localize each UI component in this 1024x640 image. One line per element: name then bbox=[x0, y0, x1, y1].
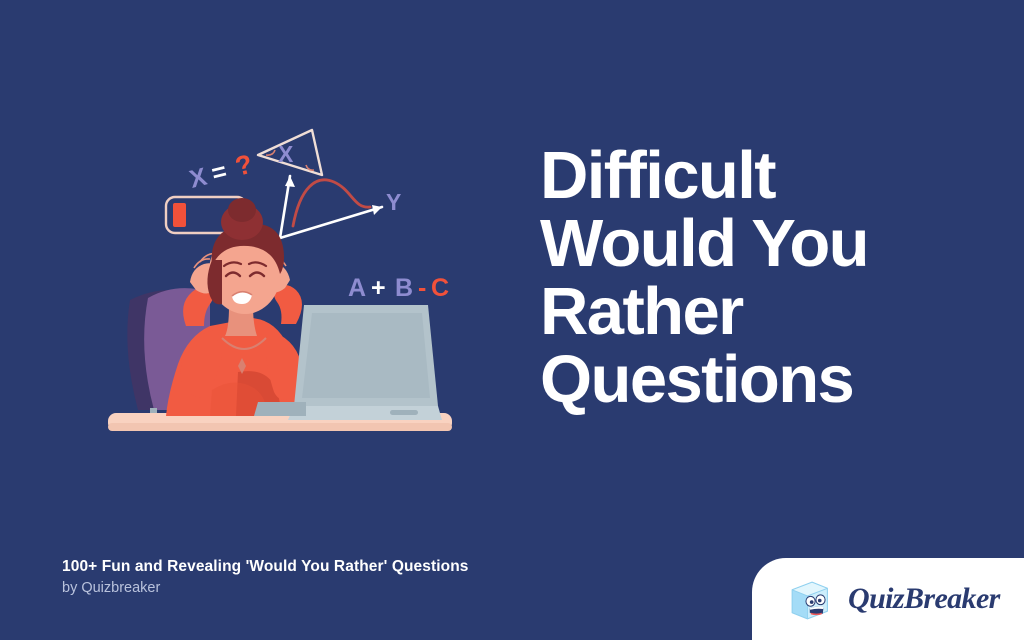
formula-a-label: A bbox=[348, 274, 366, 302]
caption-title: 100+ Fun and Revealing 'Would You Rather… bbox=[62, 557, 469, 577]
formula-c-label: C bbox=[431, 274, 449, 302]
formula-minus-label: - bbox=[418, 274, 426, 302]
page-title: Difficult Would You Rather Questions bbox=[540, 142, 980, 414]
graph-y-axis-label: Y bbox=[386, 189, 401, 215]
caption-byline: by Quizbreaker bbox=[62, 578, 469, 598]
caption-block: 100+ Fun and Revealing 'Would You Rather… bbox=[62, 557, 469, 598]
title-line-2: Would You bbox=[540, 210, 980, 278]
ice-cube-character-icon bbox=[786, 576, 832, 622]
equation-x-label: X bbox=[187, 163, 210, 194]
equation-x-equals-question: X = ? bbox=[187, 149, 256, 194]
title-line-3: Rather bbox=[540, 278, 980, 346]
brand-logo-card[interactable]: QuizBreaker bbox=[752, 558, 1024, 640]
person-head bbox=[207, 198, 284, 336]
formula-b-label: B bbox=[395, 274, 413, 302]
brand-wordmark: QuizBreaker bbox=[848, 582, 1000, 616]
graph-icon: X Y bbox=[278, 141, 401, 238]
graph-x-axis-label: X bbox=[278, 141, 294, 167]
equation-equals-label: = bbox=[209, 157, 230, 188]
formula-a-plus-b-minus-c: A + B - C bbox=[348, 274, 449, 302]
title-line-4: Questions bbox=[540, 346, 980, 414]
equation-question-label: ? bbox=[232, 149, 255, 182]
poster-canvas: X = ? X Y A + B - bbox=[0, 0, 1024, 640]
formula-plus-label: + bbox=[371, 274, 386, 302]
title-line-1: Difficult bbox=[540, 142, 980, 210]
stressed-person-at-laptop-illustration: X = ? X Y A + B - bbox=[90, 110, 510, 450]
